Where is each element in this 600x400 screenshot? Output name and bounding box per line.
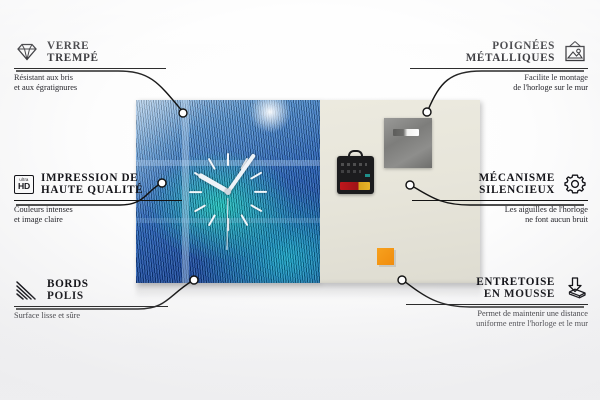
mechanism-label-line [341, 163, 367, 166]
foam-spacer-pad [377, 248, 394, 265]
callout-desc-line1: Surface lisse et sûre [14, 311, 164, 321]
callout-desc-line1: Permet de maintenir une distance [406, 309, 588, 319]
callout-title-line2: SILENCIEUX [479, 184, 555, 196]
hanger-slot [393, 129, 419, 136]
callout-title-line2: POLIS [47, 290, 89, 302]
callout-desc-line1: Résistant aux bris [14, 73, 164, 83]
callout-desc-line2: ne font aucun bruit [412, 215, 588, 225]
badge-hd-text: HD [18, 182, 30, 191]
callout-title-line1: BORDS [47, 278, 89, 290]
framed-picture-hanging-icon [562, 40, 588, 64]
callout-title-line2: TREMPÉ [47, 52, 99, 64]
callout-title-line2: MÉTALLIQUES [466, 52, 555, 64]
divider [412, 200, 588, 201]
infographic-canvas: VERRE TREMPÉ Résistant aux bris et aux é… [0, 0, 600, 400]
gear-icon [562, 172, 588, 196]
divider [406, 304, 588, 305]
callout-title-line2: EN MOUSSE [476, 288, 555, 300]
callout-polished-edges[interactable]: BORDS POLIS Surface lisse et sûre [14, 278, 164, 321]
divider [14, 68, 166, 69]
callout-silent-mechanism[interactable]: MÉCANISME SILENCIEUX Les aiguilles de l'… [412, 172, 588, 225]
callout-title-line1: MÉCANISME [479, 172, 555, 184]
callout-title-line2: HAUTE QUALITÉ [41, 184, 143, 196]
ultra-hd-badge-icon: ultra HD [14, 175, 34, 194]
callout-title-line1: ENTRETOISE [476, 276, 555, 288]
callout-desc-line1: Facilite le montage [410, 73, 588, 83]
callout-title-line1: IMPRESSION DE [41, 172, 143, 184]
callout-print-quality[interactable]: ultra HD IMPRESSION DE HAUTE QUALITÉ Cou… [14, 172, 184, 225]
callout-title-line1: POIGNÉES [466, 40, 555, 52]
callout-foam-spacer[interactable]: ENTRETOISE EN MOUSSE Permet de maintenir… [406, 276, 588, 329]
metal-hanger-plate-icon [384, 118, 432, 168]
quartz-mechanism-box [337, 156, 374, 194]
callout-desc-line1: Les aiguilles de l'horloge [412, 205, 588, 215]
callout-desc-line1: Couleurs intenses [14, 205, 184, 215]
callout-metal-handles[interactable]: POIGNÉES MÉTALLIQUES Facilite le montage… [410, 40, 588, 93]
divider [14, 200, 182, 201]
bevel-lines-icon [14, 280, 40, 300]
mechanism-marker [365, 174, 370, 177]
callout-title-line1: VERRE [47, 40, 99, 52]
diamond-icon [14, 42, 40, 62]
callout-tempered-glass[interactable]: VERRE TREMPÉ Résistant aux bris et aux é… [14, 40, 164, 93]
callout-desc-line2: et image claire [14, 215, 184, 225]
divider [14, 306, 168, 307]
divider [410, 68, 588, 69]
arrow-down-onto-pad-icon [562, 276, 588, 300]
mechanism-label-line-2 [341, 170, 361, 173]
callout-desc-line2: et aux égratignures [14, 83, 164, 93]
callout-desc-line2: de l'horloge sur le mur [410, 83, 588, 93]
mechanism-hook [348, 150, 363, 158]
battery [340, 182, 370, 190]
clock-center-pin [225, 189, 231, 195]
callout-desc-line2: uniforme entre l'horloge et le mur [406, 319, 588, 329]
